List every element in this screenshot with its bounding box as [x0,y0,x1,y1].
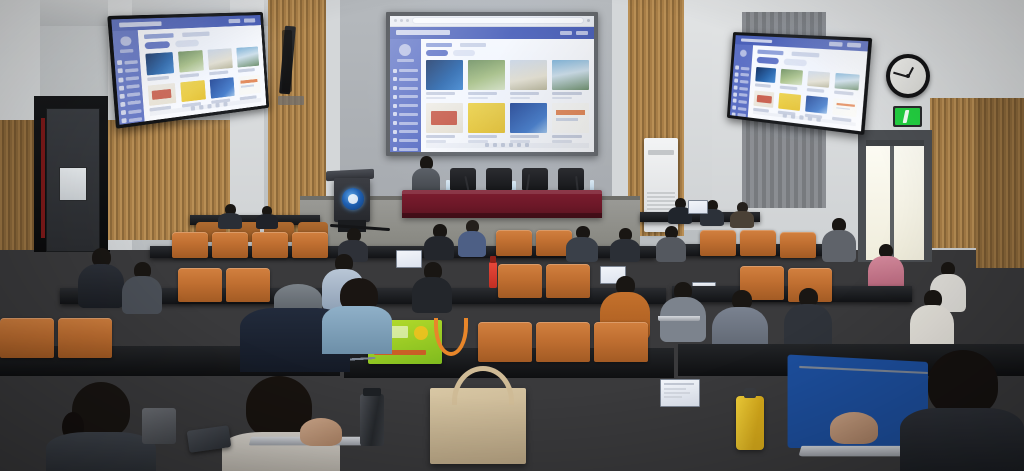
header-action[interactable] [560,31,572,35]
laptop-screen[interactable] [660,379,700,407]
audience-seat[interactable] [700,230,736,256]
avatar [399,44,411,56]
content-card[interactable] [426,60,463,100]
laptop-screen[interactable] [688,200,708,214]
sidebar-item-icon [393,130,397,134]
audience-seat[interactable] [478,322,532,362]
sidebar-item-icon [393,112,397,116]
attendee [218,204,242,226]
attendee [910,290,954,348]
content-card[interactable] [510,60,547,100]
browser-dot [400,19,403,22]
page-button[interactable] [501,143,505,147]
card-thumbnail [426,103,463,133]
audience-seat[interactable] [496,230,532,256]
content-card[interactable] [426,103,463,143]
stage-chair[interactable] [450,168,476,190]
attendee-body [46,432,156,471]
filter-chips [426,50,589,56]
attendee [656,226,686,260]
sidebar-item[interactable] [393,94,418,100]
attendee [424,224,454,258]
stage-chair[interactable] [486,168,512,190]
attendee [122,262,162,312]
sidebar-item[interactable] [393,68,418,74]
browser-toolbar [390,16,594,27]
attendee [900,350,1024,471]
attendee [46,382,156,471]
audience-seat[interactable] [780,232,816,258]
content-card[interactable] [552,103,589,143]
attendee [78,248,124,306]
cup [142,408,176,444]
emergency-exit-sign [893,106,922,127]
browser-dot [394,19,397,22]
sidebar-item[interactable] [393,103,418,109]
tab[interactable] [426,43,452,47]
sidebar-item-icon [393,138,397,142]
attendee [412,262,452,310]
attendee-body [900,408,1024,471]
card-thumbnail [510,60,547,90]
projected-application [390,16,594,152]
sidebar-item-icon [393,147,397,151]
audience-seat[interactable] [58,318,112,358]
right-wall-monitor [727,32,872,135]
app-sidebar [390,39,421,152]
card-thumbnail [426,60,463,90]
wall-panel-left-wood [0,120,34,250]
sidebar-item-icon [393,104,397,108]
sidebar-item[interactable] [393,111,418,117]
page-button[interactable] [485,143,489,147]
wall-clock [886,54,930,98]
wall-panel-corner [976,98,1024,268]
sidebar-item-icon [393,69,397,73]
institution-emblem [342,188,364,210]
page-button[interactable] [493,143,497,147]
attendee [458,220,486,256]
attendee-body [322,306,392,354]
filter-chip[interactable] [453,50,475,56]
attendee-head [928,350,998,416]
attendee [730,202,754,226]
audience-seat[interactable] [546,264,590,298]
page-button[interactable] [509,143,513,147]
sidebar-item-icon [393,86,397,90]
attendee [610,228,640,260]
attendee [660,282,706,340]
door-mullion [890,140,894,258]
speaker-podium[interactable] [334,178,370,222]
left-door-window [59,167,87,201]
app-logo [396,30,450,35]
audience-seat[interactable] [498,264,542,298]
attendee [256,206,278,226]
presenter [412,156,440,192]
attendee [784,288,832,348]
clock-center [906,74,910,78]
sidebar-item-icon [393,95,397,99]
card-thumbnail [510,103,547,133]
card-thumbnail [552,103,589,133]
browser-dot [406,19,409,22]
sidebar-item[interactable] [393,85,418,91]
card-grid [426,60,589,143]
audience-seat[interactable] [740,230,776,256]
filter-chip[interactable] [426,50,448,56]
sidebar-item-icon [393,121,397,125]
sidebar-item[interactable] [393,146,418,152]
sidebar-item-icon [393,77,397,81]
app-header-actions [560,31,588,35]
audience-seat[interactable] [212,232,248,258]
attendee [868,244,904,290]
page-button[interactable] [525,143,529,147]
sidebar-item[interactable] [393,77,418,83]
wall-panel-far-right [930,98,976,248]
audience-seat[interactable] [594,322,648,362]
card-thumbnail [468,103,505,133]
page-button[interactable] [517,143,521,147]
content-card[interactable] [468,103,505,143]
sidebar-item[interactable] [393,129,418,135]
yellow-bottle [736,396,764,450]
head-table [402,190,602,218]
hand [300,418,342,446]
address-bar[interactable] [412,17,584,24]
tab[interactable] [460,43,486,47]
content-card[interactable] [510,103,547,143]
main-projection-screen [386,12,598,156]
header-action[interactable] [576,31,588,35]
lecture-hall-scene [0,0,1024,471]
speaker-shadow [282,30,292,92]
front-wall-trim-right [612,0,628,200]
left-door[interactable] [46,108,100,252]
wall-outlet[interactable] [278,96,304,105]
attendee [566,226,598,260]
water-bottle [489,262,497,288]
attendee [822,218,856,260]
right-glass-door[interactable] [866,140,924,260]
hand [830,412,878,444]
door-edge-strip [41,118,45,238]
audience-seat[interactable] [172,232,208,258]
attendee [322,278,392,352]
sidebar-item[interactable] [393,120,418,126]
content-card[interactable] [552,60,589,100]
sidebar-item[interactable] [393,138,418,144]
pagination [426,143,589,148]
app-content [421,39,594,152]
audience-seat[interactable] [178,268,222,302]
audience-seat[interactable] [0,318,54,358]
sidebar-user-label [397,59,414,62]
card-thumbnail [468,60,505,90]
content-card[interactable] [468,60,505,100]
laptop-base [658,316,700,321]
door-header [866,140,924,146]
card-thumbnail [552,60,589,90]
browser-dot [587,19,590,22]
content-tabs [426,43,589,47]
stage-chair[interactable] [558,168,584,190]
app-header [390,27,594,39]
thermos [360,394,384,446]
audience-seat[interactable] [252,232,288,258]
audience-seat[interactable] [536,322,590,362]
